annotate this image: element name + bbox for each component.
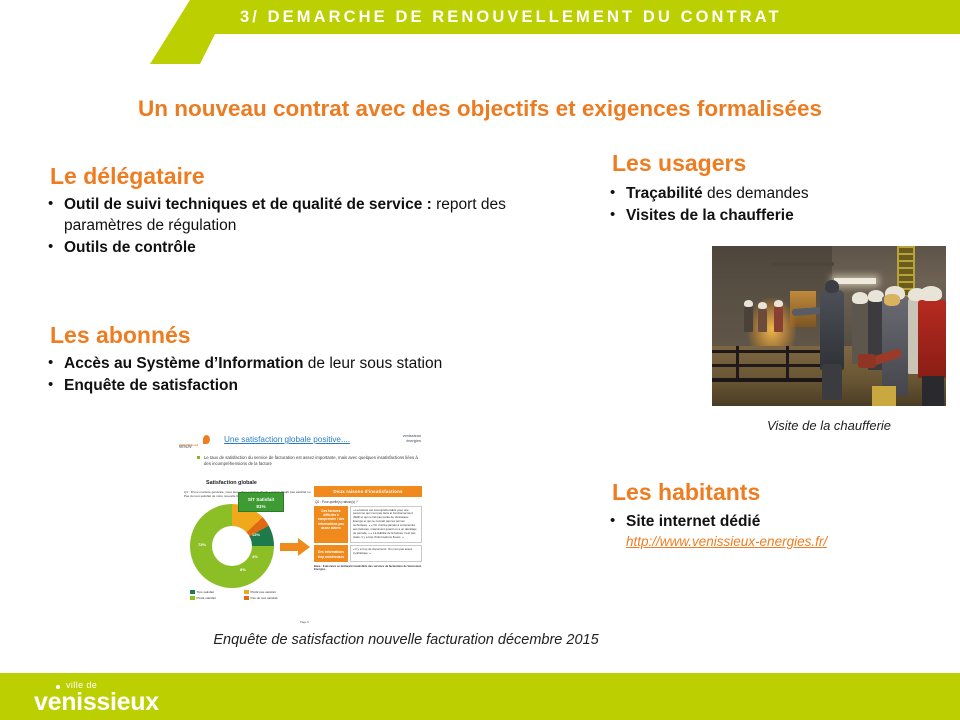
photo-rail-post xyxy=(736,346,739,380)
embedded-survey-slide: enov études & conseil Une satisfaction g… xyxy=(176,430,424,626)
photo-guide-head xyxy=(825,280,839,293)
legend-row: Plutôt satisfait Pas du tout satisfait xyxy=(190,596,300,600)
legend-item: Plutôt pas satisfait xyxy=(244,590,296,594)
photo-person xyxy=(774,306,783,332)
photo-guide-body xyxy=(820,290,844,370)
survey-page-number: Page 5 xyxy=(300,620,309,624)
panel-note: Base : 8 abonnés se déclarant insatisfai… xyxy=(314,565,422,572)
donut-label: 13% xyxy=(252,532,260,537)
bullet-bold-text: Enquête de satisfaction xyxy=(64,377,238,394)
photo-caption: Visite de la chaufferie xyxy=(712,418,946,433)
satisfaction-donut-chart: 73% 13% 4% 8% xyxy=(190,504,274,588)
panel-quotes: « La facture est incompréhensible pour u… xyxy=(350,506,422,543)
legend-item: Pas du tout satisfait xyxy=(244,596,296,600)
survey-title: Une satisfaction globale positive.... xyxy=(224,435,350,444)
photo-trousers xyxy=(922,376,944,406)
section-heading-delegataire: Le délégataire xyxy=(50,163,205,190)
photo-person xyxy=(758,308,767,332)
donut-label: 73% xyxy=(198,542,206,547)
photo-trousers xyxy=(872,386,896,406)
section-heading-usagers: Les usagers xyxy=(612,150,746,177)
legend-row: Très satisfait Plutôt pas satisfait xyxy=(190,590,300,594)
bullet-bold-text: Outils de contrôle xyxy=(64,239,196,256)
list-item: Outils de contrôle xyxy=(44,237,524,258)
bullet-list-delegataire: Outil de suivi techniques et de qualité … xyxy=(44,194,524,259)
photo-hair xyxy=(884,294,900,306)
list-item: Accès au Système d’Information de leur s… xyxy=(44,353,504,374)
satisfaction-badge: S/T Satisfait 81% xyxy=(238,492,284,512)
bullet-list-usagers: Traçabilité des demandes Visites de la c… xyxy=(606,183,936,227)
legend-item: Plutôt satisfait xyxy=(190,596,242,600)
photo-furnace-glow xyxy=(748,298,796,350)
photo-lamp xyxy=(834,278,876,284)
survey-intro-text: Le taux de satisfaction du service de fa… xyxy=(204,455,418,466)
photo-chaufferie xyxy=(712,246,946,406)
photo-helmet xyxy=(920,286,942,301)
list-item: Site internet dédié xyxy=(606,511,946,532)
bullet-normal-text: des demandes xyxy=(703,185,809,202)
website-link[interactable]: http://www.venissieux-energies.fr/ xyxy=(606,533,946,550)
section-heading-habitants: Les habitants xyxy=(612,479,760,506)
donut-label: 4% xyxy=(252,554,258,559)
list-item: Traçabilité des demandes xyxy=(606,183,936,204)
list-item: Enquête de satisfaction xyxy=(44,375,504,396)
bullet-bold-text: Traçabilité xyxy=(626,185,703,202)
insatisfaction-panel: Deux raisons d'insatisfactions Q2 : Pour… xyxy=(314,486,422,571)
photo-helmet xyxy=(774,300,783,307)
photo-guide-legs xyxy=(822,364,842,400)
panel-quotes: « Il y a trop de documents. On n'est pas… xyxy=(350,545,422,562)
badge-line-1: S/T Satisfait xyxy=(239,496,283,503)
legend-swatch xyxy=(244,596,249,600)
survey-intro: Le taux de satisfaction du service de fa… xyxy=(204,455,420,468)
photo-handbag xyxy=(858,354,876,368)
legend-label: Plutôt satisfait xyxy=(197,596,216,600)
photo-person-red-coat xyxy=(918,300,946,378)
enov-logo: enov études & conseil xyxy=(179,435,209,446)
legend-item: Très satisfait xyxy=(190,590,242,594)
legend-label: Plutôt pas satisfait xyxy=(251,590,276,594)
legend-swatch xyxy=(190,590,195,594)
bullet-bold-text: Site internet dédié xyxy=(626,513,760,530)
photo-helmet xyxy=(758,302,767,309)
list-item: Visites de la chaufferie xyxy=(606,205,936,226)
photo-rail-post xyxy=(786,346,789,380)
panel-title: Deux raisons d'insatisfactions xyxy=(314,486,422,497)
survey-brand: venissieuxénergies xyxy=(403,434,421,443)
legend-label: Pas du tout satisfait xyxy=(251,596,278,600)
legend-swatch xyxy=(244,590,249,594)
bullet-list-abonnes: Accès au Système d’Information de leur s… xyxy=(44,353,504,397)
donut-label: 8% xyxy=(240,567,246,572)
panel-row: Des informations trop nombreuses « Il y … xyxy=(314,545,422,562)
donut-hole xyxy=(212,526,252,566)
photo-person xyxy=(744,306,753,332)
panel-reason-tag: Des factures difficiles à comprendre / d… xyxy=(314,506,348,543)
list-item: Outil de suivi techniques et de qualité … xyxy=(44,194,524,236)
photo-person xyxy=(882,296,908,396)
venissieux-logo: ville de venissieux xyxy=(34,679,184,719)
square-bullet-icon xyxy=(197,456,200,459)
header-section-title: 3/ DEMARCHE DE RENOUVELLEMENT DU CONTRAT xyxy=(240,0,782,34)
photo-helmet xyxy=(852,292,868,304)
bullet-normal-text: de leur sous station xyxy=(303,355,442,372)
enov-logo-subtitle: études & conseil xyxy=(179,443,198,447)
photo-pipe xyxy=(772,262,834,266)
page-title: Un nouveau contrat avec des objectifs et… xyxy=(0,96,960,122)
chart-legend: Très satisfait Plutôt pas satisfait Plut… xyxy=(190,590,300,601)
bullet-bold-text: Accès au Système d’Information xyxy=(64,355,303,372)
legend-swatch xyxy=(190,596,195,600)
enov-logo-mark-icon xyxy=(203,435,210,444)
panel-row: Des factures difficiles à comprendre / d… xyxy=(314,506,422,543)
survey-caption: Enquête de satisfaction nouvelle factura… xyxy=(176,632,636,648)
panel-question: Q2 : Pour quelle(s) raison(s) ? xyxy=(315,500,422,504)
photo-railing xyxy=(712,378,832,382)
badge-line-2: 81% xyxy=(239,503,283,510)
survey-section-label: Satisfaction globale xyxy=(206,480,257,486)
slide-canvas: 3/ DEMARCHE DE RENOUVELLEMENT DU CONTRAT… xyxy=(0,0,960,720)
logo-city-name: venissieux xyxy=(34,688,159,717)
bullet-bold-text: Outil de suivi techniques et de qualité … xyxy=(64,196,432,213)
bullet-bold-text: Visites de la chaufferie xyxy=(626,207,794,224)
section-heading-abonnes: Les abonnés xyxy=(50,322,191,349)
photo-helmet xyxy=(744,300,753,307)
panel-reason-tag: Des informations trop nombreuses xyxy=(314,545,348,562)
orange-arrow-icon xyxy=(280,538,310,556)
bullet-list-habitants: Site internet dédié http://www.venissieu… xyxy=(606,511,946,550)
legend-label: Très satisfait xyxy=(197,590,214,594)
